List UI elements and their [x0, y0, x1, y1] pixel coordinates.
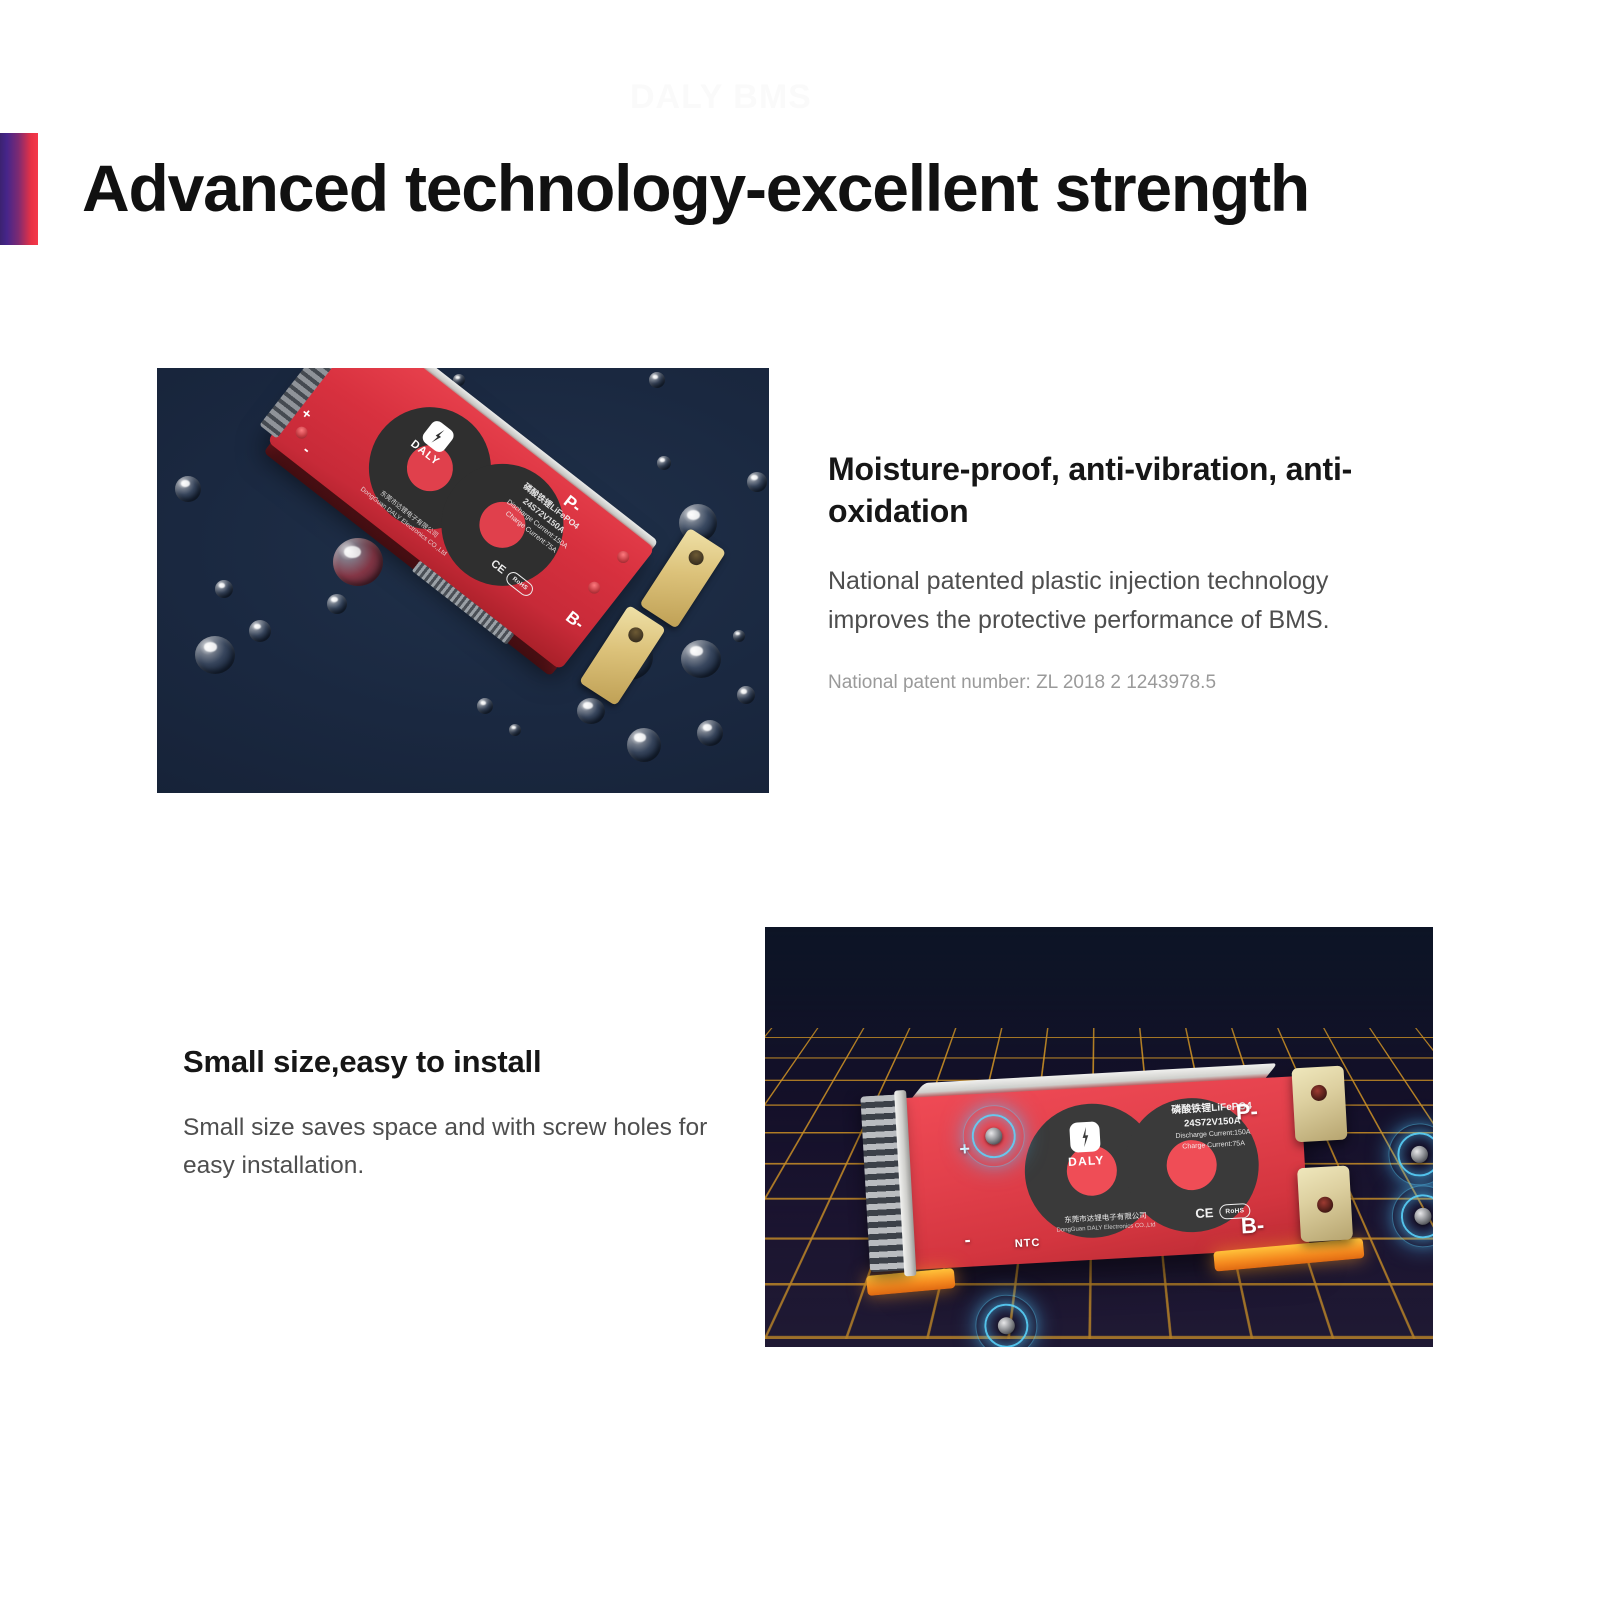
gold-bracket-b: [1297, 1165, 1353, 1242]
terminal-label-minus: -: [299, 442, 313, 458]
mounting-screw: [615, 549, 632, 566]
board-face: DALY 磷酸铁锂LiFePO4 24S72V150A Discharge Cu…: [901, 1076, 1310, 1270]
water-droplet: [577, 698, 605, 724]
bracket-hole: [1317, 1196, 1334, 1213]
section-title: Moisture-proof, anti-vibration, anti-oxi…: [828, 448, 1388, 532]
page-title: Advanced technology-excellent strength: [82, 155, 1309, 222]
figure-moisture-proof-board: DALY 磷酸铁锂LiFePO4 24S72V150A Discharge Cu…: [157, 368, 769, 793]
lightning-bolt-icon: [1069, 1121, 1101, 1153]
water-droplet: [733, 630, 745, 642]
water-droplet: [627, 728, 661, 762]
mounting-screw: [586, 579, 603, 596]
headline-accent-bar: [0, 133, 38, 245]
mounting-screw: [293, 424, 310, 441]
gold-bracket-p: [1291, 1066, 1347, 1143]
water-droplet: [215, 580, 233, 598]
terminal-bolt-hole: [686, 547, 707, 568]
water-droplet: [477, 698, 493, 714]
board-face: DALY 磷酸铁锂LiFePO4 24S72V150A Discharge Cu…: [267, 368, 655, 670]
highlighted-screw: [1404, 1139, 1433, 1171]
headline-row: Advanced technology-excellent strength: [0, 133, 1309, 245]
water-droplet: [195, 636, 235, 674]
terminal-label-b-minus: B-: [562, 607, 588, 634]
page-watermark: DALY BMS: [630, 78, 1010, 126]
terminal-label-p-minus: P-: [1235, 1098, 1258, 1125]
water-droplet: [327, 594, 347, 614]
water-droplet: [649, 372, 665, 388]
water-droplet: [697, 720, 723, 746]
water-droplet: [333, 538, 383, 586]
highlighted-screw: [991, 1310, 1023, 1342]
water-droplet: [737, 686, 755, 704]
water-droplet: [657, 456, 671, 470]
terminal-label-minus: -: [964, 1230, 971, 1251]
section-moisture-proof: Moisture-proof, anti-vibration, anti-oxi…: [828, 448, 1388, 697]
figure-small-size-board: DALY 磷酸铁锂LiFePO4 24S72V150A Discharge Cu…: [765, 927, 1433, 1347]
water-droplet: [509, 724, 521, 736]
water-droplet: [175, 476, 201, 502]
section-body: Small size saves space and with screw ho…: [183, 1109, 743, 1185]
section-body: National patented plastic injection tech…: [828, 562, 1388, 640]
terminal-label-b-minus: B-: [1240, 1212, 1265, 1239]
marketing-page: DALY BMS Advanced technology-excellent s…: [0, 0, 1600, 1600]
board-spec-label: 磷酸铁锂LiFePO4 24S72V150A Discharge Current…: [1147, 1097, 1278, 1154]
water-droplet: [249, 620, 271, 642]
bms-board: DALY 磷酸铁锂LiFePO4 24S72V150A Discharge Cu…: [901, 1076, 1310, 1270]
section-title: Small size,easy to install: [183, 1042, 743, 1083]
terminal-label-ntc: NTC: [1014, 1237, 1040, 1250]
bracket-hole: [1310, 1085, 1327, 1102]
section-small-size: Small size,easy to install Small size sa…: [183, 1042, 743, 1185]
section-patent-note: National patent number: ZL 2018 2 124397…: [828, 670, 1388, 697]
terminal-bolt-hole: [625, 624, 646, 645]
daly-brand-mark: DALY: [1054, 1120, 1116, 1169]
bms-board: DALY 磷酸铁锂LiFePO4 24S72V150A Discharge Cu…: [267, 368, 655, 670]
highlighted-screw: [1407, 1201, 1433, 1233]
water-droplet: [747, 472, 767, 492]
ce-mark: CE: [1195, 1205, 1214, 1221]
highlighted-screw: [978, 1120, 1010, 1152]
water-droplet: [681, 640, 721, 678]
